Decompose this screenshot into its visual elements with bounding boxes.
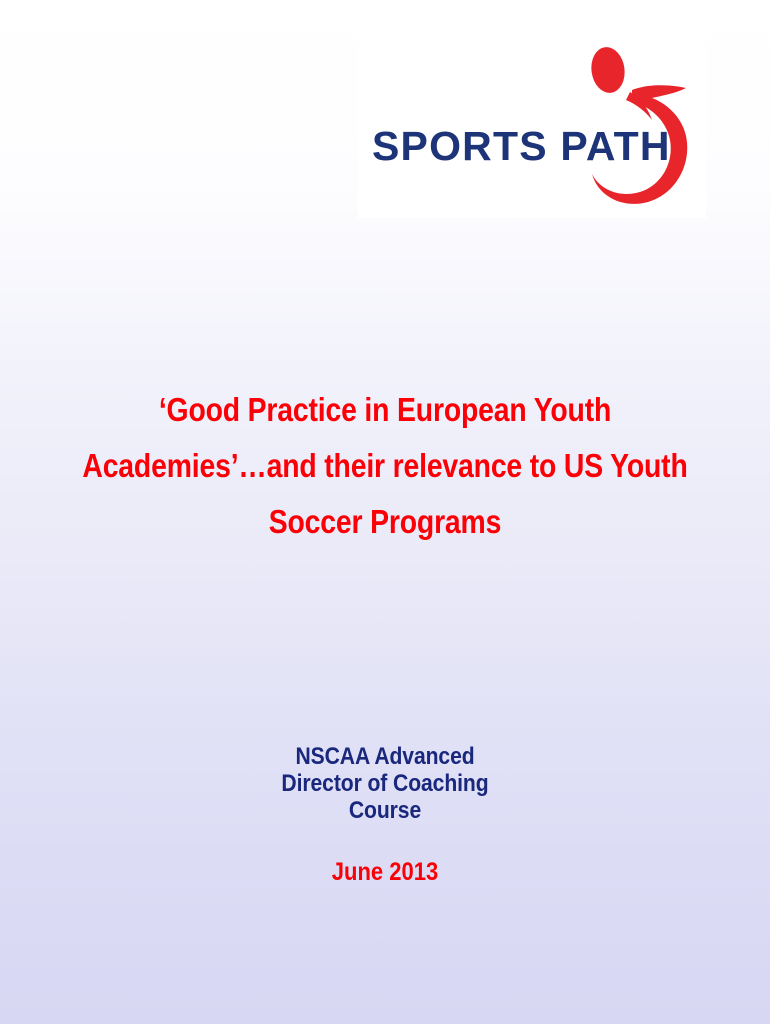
course-subtitle: NSCAA Advanced Director of Coaching Cour…: [0, 743, 770, 824]
course-line-3: Course: [46, 797, 724, 824]
sports-path-logo: SPORTS PATH: [358, 30, 706, 218]
slide-date: June 2013: [0, 858, 770, 886]
sports-path-swoosh-icon: [586, 38, 706, 218]
date-text: June 2013: [46, 858, 724, 886]
course-line-2: Director of Coaching: [46, 770, 724, 797]
title-line-2: Academies’…and their relevance to US You…: [54, 438, 716, 494]
slide-title: ‘Good Practice in European Youth Academi…: [0, 382, 770, 550]
title-line-3: Soccer Programs: [54, 494, 716, 550]
title-line-1: ‘Good Practice in European Youth: [54, 382, 716, 438]
course-line-1: NSCAA Advanced: [46, 743, 724, 770]
title-slide: SPORTS PATH ‘Good Practice in European Y…: [0, 0, 770, 1024]
